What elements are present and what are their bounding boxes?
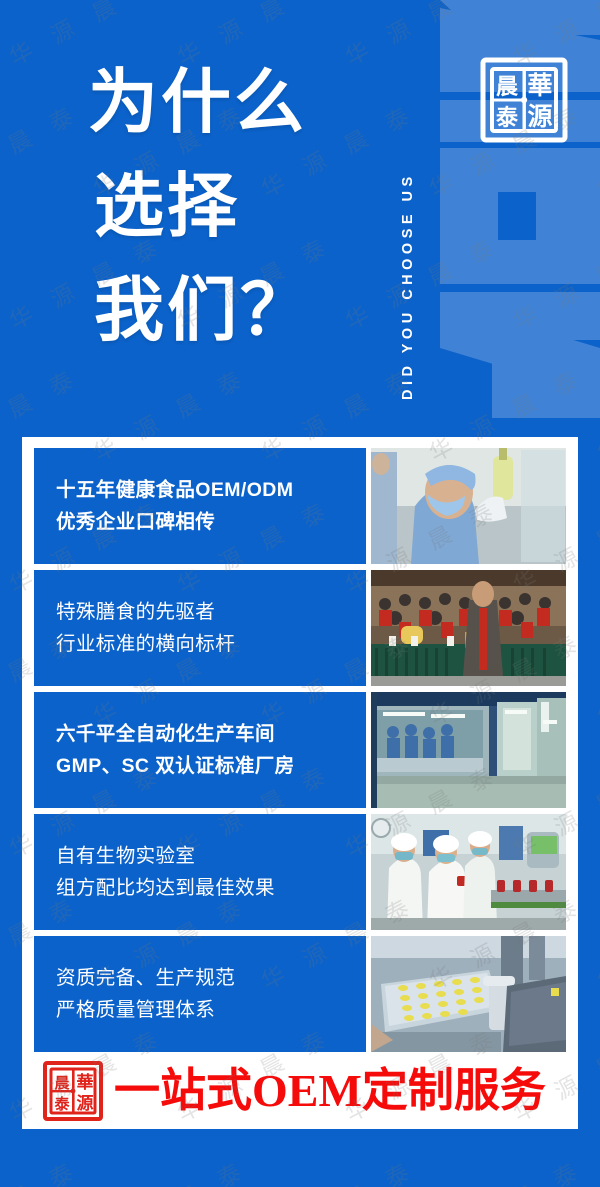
list-item[interactable]: 自有生物实验室 组方配比均达到最佳效果: [34, 814, 566, 930]
feature-line: GMP、SC 双认证标准厂房: [56, 750, 366, 782]
brand-watermark-text: 华 源 晨 泰: [0, 490, 2, 601]
headline-line-3: 我们？: [88, 260, 398, 364]
svg-text:晨: 晨: [496, 74, 519, 99]
company-seal-red-icon: 華 源 晨 泰: [42, 1060, 104, 1122]
feature-line: 严格质量管理体系: [56, 994, 366, 1026]
svg-text:源: 源: [527, 103, 552, 131]
list-item[interactable]: 资质完备、生产规范 严格质量管理体系: [34, 936, 566, 1052]
brand-watermark-text: 华 源 晨 泰: [422, 1150, 590, 1187]
feature-line: 组方配比均达到最佳效果: [56, 872, 366, 904]
brand-watermark-text: 华 源 晨 泰: [86, 1150, 254, 1187]
lab-technician-iv-bag-photo: [371, 448, 566, 564]
feature-text-5: 资质完备、生产规范 严格质量管理体系: [34, 936, 366, 1052]
conference-audience-photo: [371, 570, 566, 686]
cleanroom-corridor-photo: [371, 692, 566, 808]
feature-text-4: 自有生物实验室 组方配比均达到最佳效果: [34, 814, 366, 930]
feature-line: 行业标准的横向标杆: [56, 628, 366, 660]
feature-text-2: 特殊膳食的先驱者 行业标准的横向标杆: [34, 570, 366, 686]
brand-watermark-text: 华 源 晨 泰: [590, 1150, 600, 1187]
bottom-banner: 華 源 晨 泰 一站式OEM定制服务: [22, 1053, 578, 1129]
brand-watermark-text: 华 源 晨 泰: [0, 1150, 86, 1187]
list-item[interactable]: 特殊膳食的先驱者 行业标准的横向标杆: [34, 570, 566, 686]
list-item[interactable]: 六千平全自动化生产车间 GMP、SC 双认证标准厂房: [34, 692, 566, 808]
vertical-english-caption: DID YOU CHOOSE US: [400, 20, 426, 400]
blister-packing-machine-photo: [371, 936, 566, 1052]
svg-text:華: 華: [77, 1073, 94, 1092]
svg-text:泰: 泰: [53, 1095, 70, 1113]
feature-line: 十五年健康食品OEM/ODM: [56, 474, 366, 506]
company-seal-white-icon: 華 源 晨 泰: [477, 53, 571, 147]
feature-line: 优秀企业口碑相传: [56, 506, 366, 538]
headline-line-1: 为什么: [88, 52, 398, 156]
svg-text:晨: 晨: [54, 1074, 70, 1092]
feature-line: 资质完备、生产规范: [56, 962, 366, 994]
brand-watermark-text: 华 源 晨 泰: [0, 754, 2, 865]
svg-text:華: 華: [527, 72, 552, 100]
brand-watermark-text: 华 源 晨 泰: [590, 622, 600, 733]
feature-list: 十五年健康食品OEM/ODM 优秀企业口碑相传: [34, 448, 566, 1052]
list-item[interactable]: 十五年健康食品OEM/ODM 优秀企业口碑相传: [34, 448, 566, 564]
svg-text:泰: 泰: [495, 105, 519, 130]
feature-line: 六千平全自动化生产车间: [56, 718, 366, 750]
feature-text-3: 六千平全自动化生产车间 GMP、SC 双认证标准厂房: [34, 692, 366, 808]
feature-text-1: 十五年健康食品OEM/ODM 优秀企业口碑相传: [34, 448, 366, 564]
brand-watermark-text: 华 源 晨 泰: [0, 1018, 2, 1129]
svg-text:源: 源: [77, 1093, 94, 1113]
feature-line: 自有生物实验室: [56, 840, 366, 872]
poster-root: 为什么 选择 我们？ DID YOU CHOOSE US 華 源 晨 泰: [0, 0, 600, 1187]
brand-watermark-text: 华 源 晨 泰: [590, 886, 600, 997]
headline-line-2: 选择: [88, 156, 398, 260]
brand-watermark-text: 华 源 晨 泰: [254, 1150, 422, 1187]
production-line-workers-photo: [371, 814, 566, 930]
banner-headline: 一站式OEM定制服务: [114, 1067, 546, 1115]
content-frame: 十五年健康食品OEM/ODM 优秀企业口碑相传: [22, 437, 578, 1129]
page-title: 为什么 选择 我们？: [88, 52, 398, 364]
poster-header: 为什么 选择 我们？ DID YOU CHOOSE US 華 源 晨 泰: [0, 0, 600, 437]
feature-line: 特殊膳食的先驱者: [56, 596, 366, 628]
